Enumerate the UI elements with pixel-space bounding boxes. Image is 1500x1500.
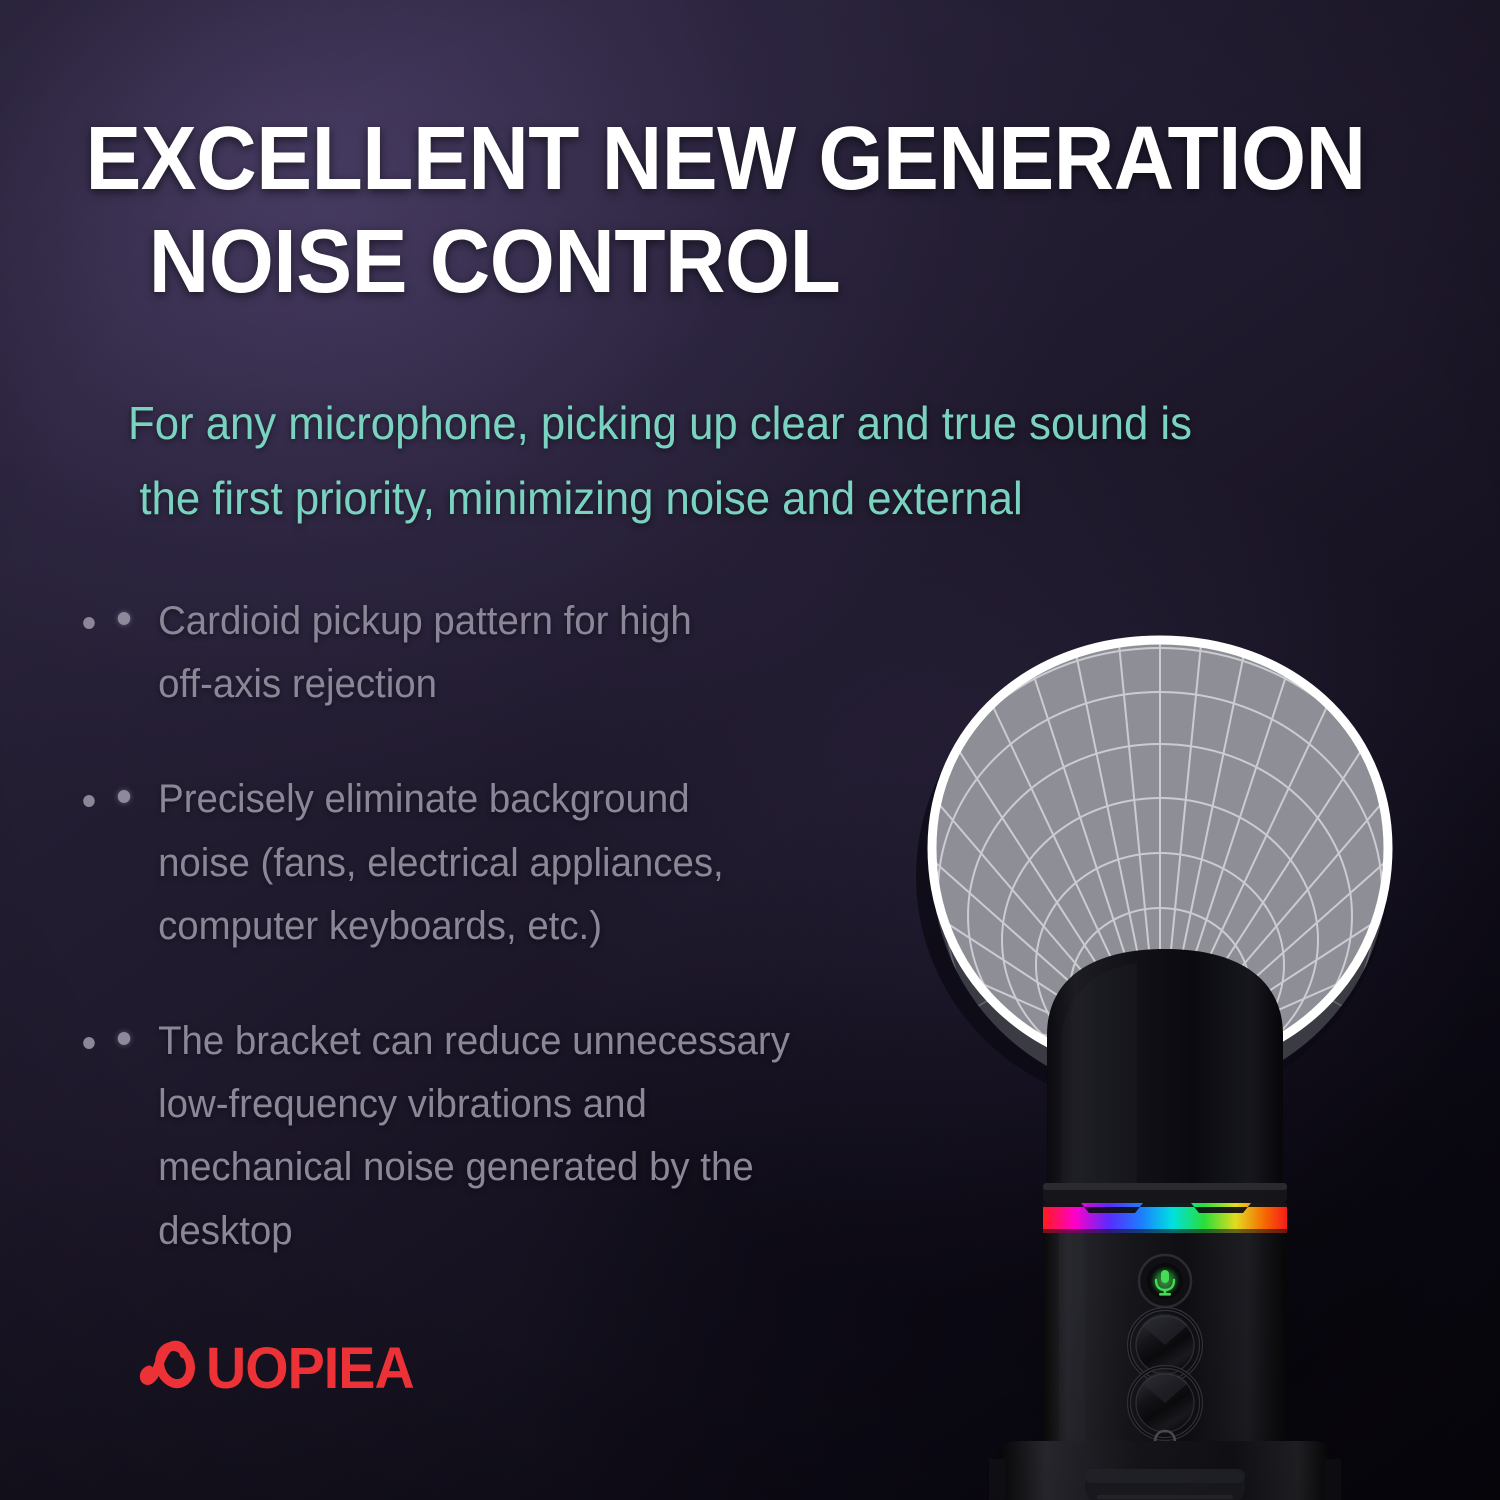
volume-knob xyxy=(1129,1367,1201,1439)
page-title: EXCELLENT NEW GENERATION NOISE CONTROL xyxy=(0,108,1339,313)
subtitle-line-1: For any microphone, picking up clear and… xyxy=(128,386,1297,461)
loop-swirl-icon xyxy=(138,1338,200,1400)
brand-name: UOPIEA xyxy=(206,1340,414,1398)
usb-condenser-microphone xyxy=(985,925,1345,1500)
feature-line: Cardioid pickup pattern for high xyxy=(158,590,870,653)
feature-line: off-axis rejection xyxy=(158,653,870,716)
feature-line: desktop xyxy=(158,1200,870,1263)
feature-line: low-frequency vibrations and xyxy=(158,1073,870,1136)
subtitle: For any microphone, picking up clear and… xyxy=(128,386,1297,535)
mute-button xyxy=(1139,1255,1191,1307)
bullet-dot-icon xyxy=(118,790,130,803)
feature-line: mechanical noise generated by the xyxy=(158,1136,870,1199)
brand-logo: UOPIEA xyxy=(138,1338,422,1400)
feature-line: Precisely eliminate background xyxy=(158,768,870,831)
feature-list: Cardioid pickup pattern for high off-axi… xyxy=(112,590,902,1263)
bullet-dot-icon xyxy=(118,1032,130,1045)
rgb-light-ring xyxy=(1043,1203,1287,1234)
list-item: Precisely eliminate background noise (fa… xyxy=(112,768,870,958)
feature-line: noise (fans, electrical appliances, xyxy=(158,832,870,895)
subtitle-line-2: the first priority, minimizing noise and… xyxy=(128,461,1297,536)
microphone-base-bracket xyxy=(989,1441,1341,1500)
product-feature-poster: EXCELLENT NEW GENERATION NOISE CONTROL F… xyxy=(0,0,1500,1500)
list-item: Cardioid pickup pattern for high off-axi… xyxy=(112,590,870,716)
feature-line: The bracket can reduce unnecessary xyxy=(158,1010,870,1073)
bullet-dot-icon xyxy=(118,612,130,625)
microphone-head xyxy=(1047,949,1283,1187)
headline-line-1: EXCELLENT NEW GENERATION xyxy=(0,108,1339,211)
feature-line: computer keyboards, etc.) xyxy=(158,895,870,958)
headline-line-2: NOISE CONTROL xyxy=(0,211,1339,314)
list-item: The bracket can reduce unnecessary low-f… xyxy=(112,1010,870,1263)
